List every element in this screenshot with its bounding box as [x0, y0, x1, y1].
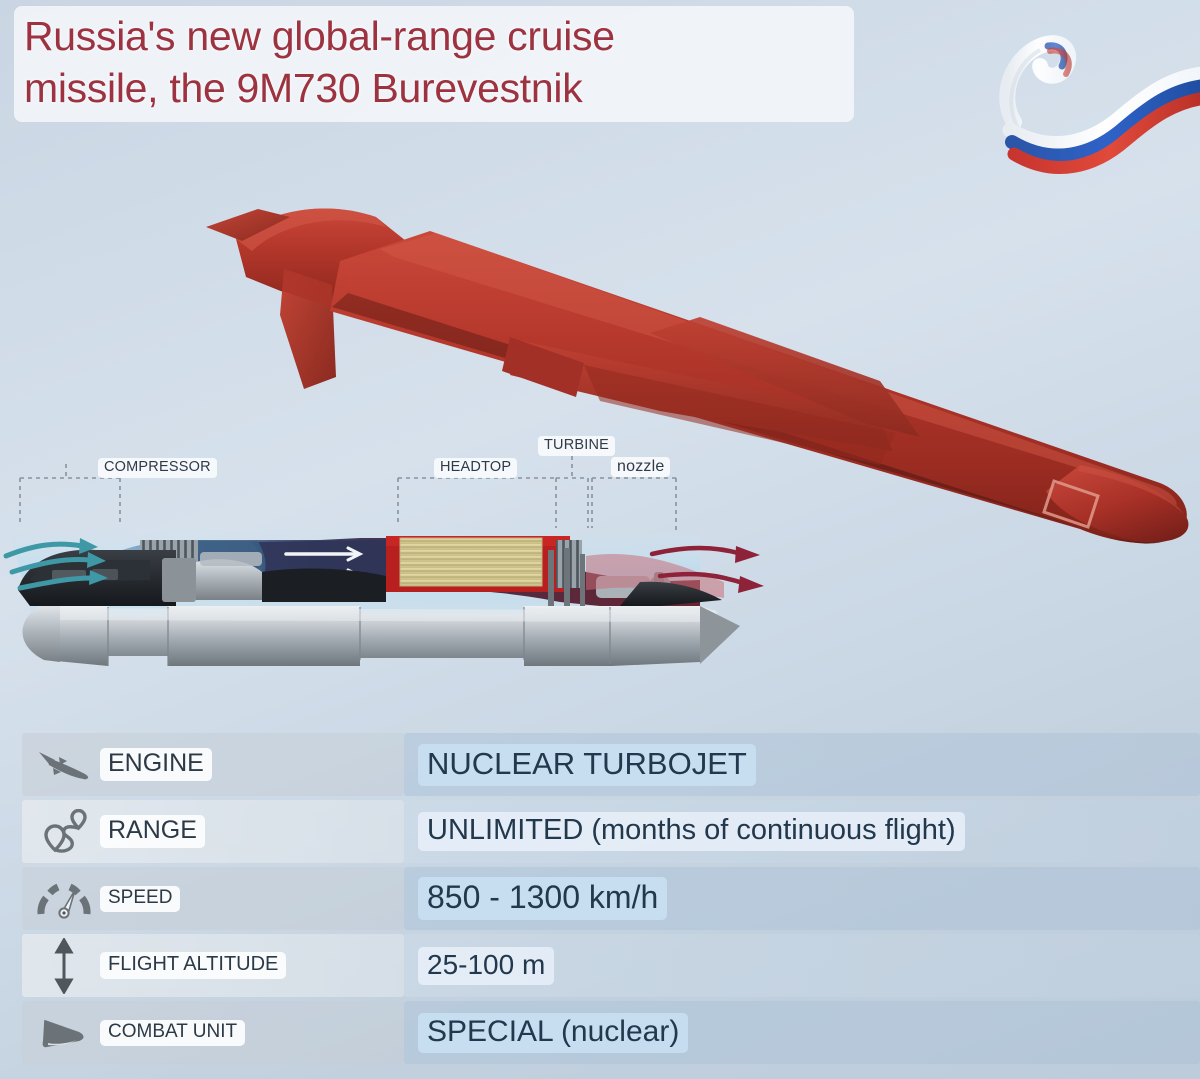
callout-turbine: TURBINE [538, 436, 615, 456]
russian-flag-ribbon-icon [970, 4, 1200, 179]
spec-label-cell: FLIGHT ALTITUDE [22, 934, 404, 997]
table-row: RANGE UNLIMITED (months of continuous fl… [0, 798, 1200, 865]
spec-label-cell: RANGE [22, 800, 404, 863]
spec-value: UNLIMITED (months of continuous flight) [418, 812, 965, 851]
callout-headtop: HEADTOP [434, 458, 517, 478]
route-pins-icon [28, 805, 100, 859]
title-line-2: missile, the 9M730 Burevestnik [24, 62, 844, 114]
spec-label-cell: SPEED [22, 867, 404, 930]
spec-label: SPEED [100, 886, 180, 912]
spec-label: COMBAT UNIT [100, 1020, 245, 1046]
table-row: ENGINE NUCLEAR TURBOJET [0, 731, 1200, 798]
vertical-arrow-icon [28, 939, 100, 993]
callout-nozzle: nozzle [611, 457, 670, 477]
table-row: COMBAT UNIT SPECIAL (nuclear) [0, 999, 1200, 1066]
spec-value-cell: SPECIAL (nuclear) [404, 1001, 1200, 1064]
callout-compressor: COMPRESSOR [98, 458, 217, 478]
warhead-cone-icon [28, 1006, 100, 1060]
spec-label-cell: ENGINE [22, 733, 404, 796]
spec-value-cell: 25-100 m [404, 934, 1200, 997]
reactor-core [400, 538, 542, 586]
spec-value-cell: NUCLEAR TURBOJET [404, 733, 1200, 796]
spec-label-cell: COMBAT UNIT [22, 1001, 404, 1064]
spec-value: NUCLEAR TURBOJET [418, 744, 756, 786]
speedometer-icon [28, 872, 100, 926]
spec-value-cell: UNLIMITED (months of continuous flight) [404, 800, 1200, 863]
spec-label: ENGINE [100, 748, 212, 781]
missile-icon [28, 738, 100, 792]
page-title: Russia's new global-range cruise missile… [14, 6, 854, 122]
specifications-table: ENGINE NUCLEAR TURBOJET RANGE UNLIMITED … [0, 731, 1200, 1079]
table-row: FLIGHT ALTITUDE 25-100 m [0, 932, 1200, 999]
spec-value-cell: 850 - 1300 km/h [404, 867, 1200, 930]
spec-value: 850 - 1300 km/h [418, 877, 667, 920]
spec-label: RANGE [100, 815, 205, 848]
exhaust-arrowheads [735, 546, 764, 593]
table-row: SPEED 850 - 1300 km/h [0, 865, 1200, 932]
spec-value: SPECIAL (nuclear) [418, 1013, 688, 1053]
title-line-1: Russia's new global-range cruise [24, 10, 844, 62]
spec-label: FLIGHT ALTITUDE [100, 952, 286, 979]
spec-value: 25-100 m [418, 947, 554, 985]
